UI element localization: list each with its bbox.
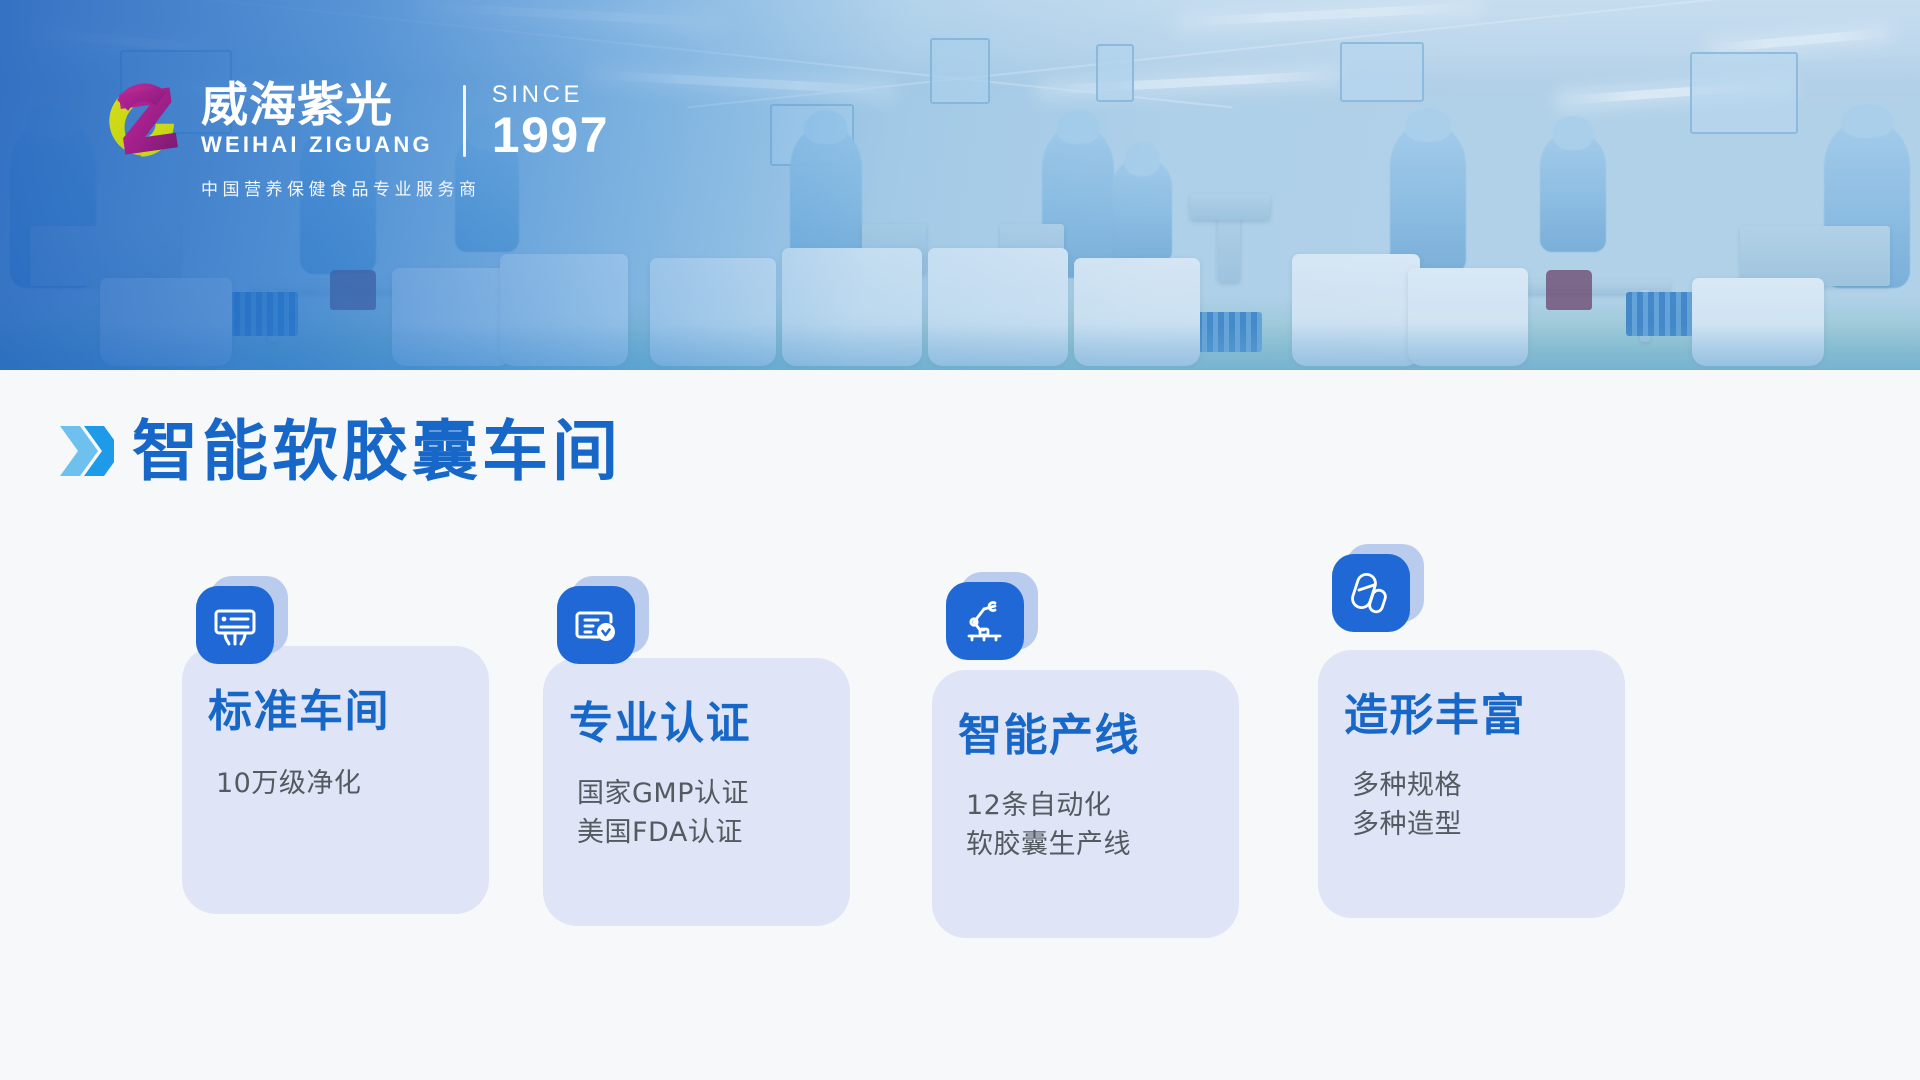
card-desc-line1: 国家GMP认证: [577, 774, 749, 813]
card-title: 标准车间: [208, 690, 390, 734]
card-desc: 10万级净化: [216, 764, 361, 803]
since-label: SINCE: [492, 83, 609, 107]
feature-card-list: 标准车间 10万级净化 专业认证: [0, 370, 1920, 1080]
card-desc-line2: 美国FDA认证: [577, 813, 743, 852]
air-handler-glyph: [210, 600, 260, 650]
brand-logo-lockup[interactable]: 威海紫光 WEIHAI ZIGUANG SINCE 1997 中国营养保健食品专…: [95, 78, 609, 200]
brand-tagline: 中国营养保健食品专业服务商: [201, 175, 481, 200]
card-title: 造形丰富: [1344, 694, 1526, 738]
since-block: SINCE 1997: [492, 83, 609, 160]
hero-banner: 威海紫光 WEIHAI ZIGUANG SINCE 1997 中国营养保健食品专…: [0, 0, 1920, 370]
card-title: 智能产线: [958, 714, 1140, 758]
feature-card-standard-workshop[interactable]: 标准车间 10万级净化: [182, 646, 489, 914]
brand-name-cn: 威海紫光: [201, 82, 433, 130]
softgel-capsule-icon: [1332, 554, 1414, 636]
capsule-glyph: [1346, 568, 1396, 618]
robot-arm-glyph: [960, 596, 1010, 646]
icon-tile: [196, 586, 274, 664]
card-desc-line2: 软胶囊生产线: [966, 825, 1131, 864]
brand-wordmark: 威海紫光 WEIHAI ZIGUANG: [201, 82, 433, 160]
cleanroom-air-handler-icon: [196, 586, 278, 668]
card-desc-line2: 多种造型: [1352, 805, 1462, 844]
icon-tile: [946, 582, 1024, 660]
brand-name-en: WEIHAI ZIGUANG: [201, 130, 433, 160]
robotic-arm-icon: [946, 582, 1028, 664]
feature-card-rich-shapes[interactable]: 造形丰富 多种规格 多种造型: [1318, 650, 1625, 918]
brand-logo-row: 威海紫光 WEIHAI ZIGUANG SINCE 1997: [95, 78, 609, 164]
ziguang-z-logo-icon: [95, 78, 187, 164]
certificate-check-icon: [557, 586, 639, 668]
feature-card-certification[interactable]: 专业认证 国家GMP认证 美国FDA认证: [543, 658, 850, 926]
card-title: 专业认证: [569, 702, 751, 746]
feature-card-smart-production-line[interactable]: 智能产线 12条自动化 软胶囊生产线: [932, 670, 1239, 938]
logo-divider: [463, 85, 466, 157]
card-desc-line1: 12条自动化: [966, 786, 1111, 825]
card-desc-line1: 多种规格: [1352, 766, 1462, 805]
content-section: 智能软胶囊车间 标准车间 10万: [0, 370, 1920, 1080]
certificate-glyph: [571, 600, 621, 650]
since-year: 1997: [492, 110, 609, 160]
icon-tile: [557, 586, 635, 664]
icon-tile: [1332, 554, 1410, 632]
